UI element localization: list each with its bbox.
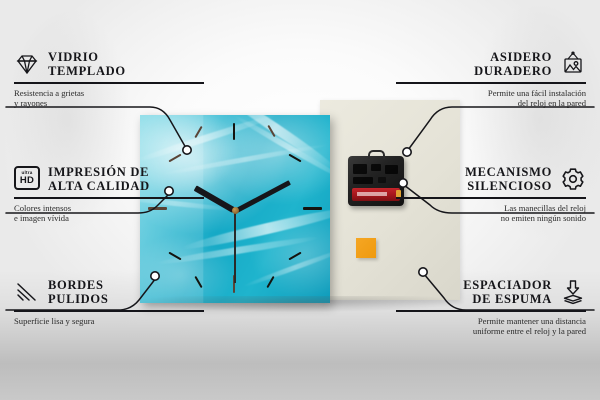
polished-edges-icon [14,279,40,305]
feature-description: Permite una fácil instalación del reloj … [396,88,586,109]
feature-divider [14,197,204,199]
feature-description: Superficie lisa y segura [14,316,204,327]
diamond-icon [14,51,40,77]
feature-title: MECANISMO SILENCIOSO [465,165,552,193]
feature-impresion-alta-calidad: ultra HD IMPRESIÓN DE ALTA CALIDAD Color… [14,165,204,224]
clock-second-hand [234,211,236,283]
feature-title: BORDES PULIDOS [48,278,108,306]
feature-mecanismo-silencioso: MECANISMO SILENCIOSO Las manecillas del … [396,165,586,224]
feature-description: Permite mantener una distancia uniforme … [396,316,586,337]
feature-description: Las manecillas del reloj no emiten ningú… [396,203,586,224]
feature-vidrio-templado: VIDRIO TEMPLADO Resistencia a grietas y … [14,50,204,109]
background-gradient-right [450,0,600,280]
clock-hand-cap [232,207,239,214]
feature-title: ESPACIADOR DE ESPUMA [463,278,552,306]
press-down-layers-icon [560,279,586,305]
hd-badge-hd-label: HD [20,176,34,186]
feature-divider [396,82,586,84]
feature-title: VIDRIO TEMPLADO [48,50,126,78]
framed-picture-icon [560,51,586,77]
feature-asidero-duradero: ASIDERO DURADERO Permite una fácil insta… [396,50,586,109]
feature-espaciador-espuma: ESPACIADOR DE ESPUMA Permite mantener un… [396,278,586,337]
gear-icon [560,166,586,192]
foam-spacer [356,238,376,258]
ultra-hd-badge-icon: ultra HD [14,166,40,192]
feature-divider [396,310,586,312]
feature-divider [14,82,204,84]
feature-divider [396,197,586,199]
feature-description: Resistencia a grietas y rayones [14,88,204,109]
mechanism-hanger-icon [368,150,385,159]
feature-title: ASIDERO DURADERO [474,50,552,78]
feature-title: IMPRESIÓN DE ALTA CALIDAD [48,165,150,193]
infographic-canvas: VIDRIO TEMPLADO Resistencia a grietas y … [0,0,600,400]
feature-bordes-pulidos: BORDES PULIDOS Superficie lisa y segura [14,278,204,326]
mechanism-battery [352,188,400,201]
feature-divider [14,310,204,312]
background-gradient-left [0,0,140,270]
feature-description: Colores intensos e imagen vívida [14,203,204,224]
